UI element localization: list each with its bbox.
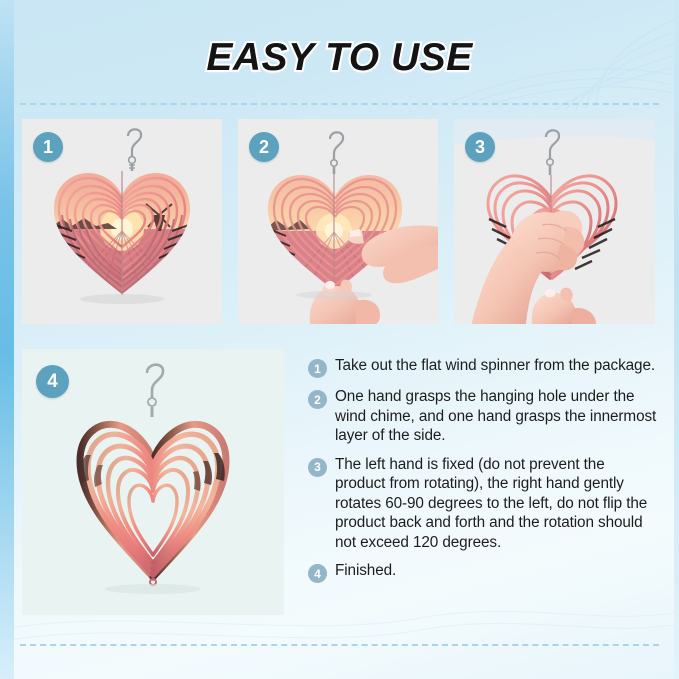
step-text-3: The left hand is fixed (do not prevent t… [335, 455, 658, 553]
s-hook [128, 129, 141, 171]
page-title: EASY TO USE [0, 36, 679, 80]
panel-badge-3: 3 [465, 132, 495, 162]
list-item: 3 The left hand is fixed (do not prevent… [308, 455, 658, 553]
step-text-4: Finished. [335, 561, 396, 581]
step-badge-4: 4 [308, 564, 327, 583]
list-item: 2 One hand grasps the hanging hole under… [308, 387, 658, 446]
photo-panel-2: 2 [238, 119, 438, 324]
divider-top [20, 103, 659, 105]
step-text-1: Take out the flat wind spinner from the … [335, 356, 655, 376]
step-badge-1: 1 [308, 359, 327, 378]
photo-panel-3: 3 [454, 119, 655, 324]
panel-badge-4: 4 [36, 365, 69, 398]
panel-badge-2: 2 [249, 132, 279, 162]
instruction-list: 1 Take out the flat wind spinner from th… [308, 356, 658, 592]
step-badge-3: 3 [308, 458, 327, 477]
left-accent-band [0, 0, 14, 679]
infographic-page: EASY TO USE 1 [0, 0, 679, 679]
photo-panel-4: 4 [22, 349, 284, 615]
step-text-2: One hand grasps the hanging hole under t… [335, 387, 658, 446]
panel-badge-1: 1 [33, 132, 63, 162]
list-item: 1 Take out the flat wind spinner from th… [308, 356, 658, 378]
right-accent-band [674, 0, 679, 679]
photo-panel-1: 1 [22, 119, 222, 324]
step-badge-2: 2 [308, 390, 327, 409]
divider-bottom [20, 644, 659, 646]
list-item: 4 Finished. [308, 561, 658, 583]
